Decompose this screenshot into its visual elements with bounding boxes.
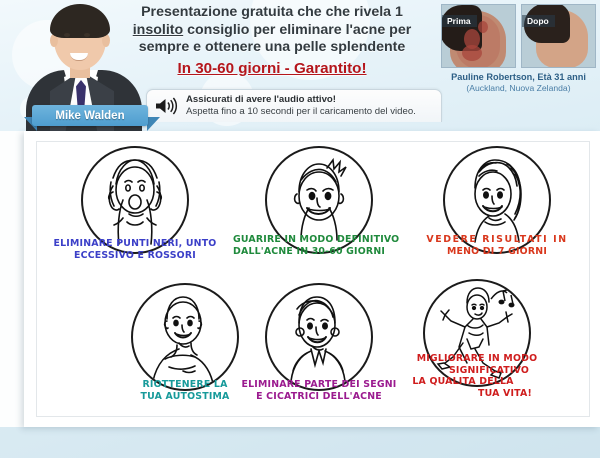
presenter-eyebrow-right <box>81 28 91 30</box>
benefit-item: GUARIRE IN MODO DEFINITIVO DALL'ACNE IN … <box>227 142 411 279</box>
before-photo: Prima <box>441 4 516 68</box>
benefit-caption-line: TUA VITA! <box>385 388 569 400</box>
audio-notice-line-2: Aspetta fino a 10 secondi per il caricam… <box>186 106 416 117</box>
headline-emphasis: insolito <box>133 22 183 38</box>
before-after-images: Prima Dopo <box>441 4 596 68</box>
benefit-caption-line: MENO DI 7 GIORNI <box>405 246 589 258</box>
left-margin-strip <box>0 131 24 427</box>
benefit-item: VEDERE RISULTATI IN MENO DI 7 GIORNI <box>405 142 589 279</box>
headline-guarantee: In 30-60 giorni - Garantito! <box>103 60 441 78</box>
acne-blotch <box>478 21 488 33</box>
page-title: Presentazione gratuita che che rivela 1 … <box>103 4 441 77</box>
woman-earrings-icon <box>265 283 373 391</box>
speaker-icon <box>155 97 179 115</box>
benefit-caption: ELIMINARE PARTE DEI SEGNI E CICATRICI DE… <box>227 379 411 402</box>
presenter-hair <box>50 4 110 38</box>
before-after-testimonial: Prima Dopo Pauline Robertson, Età 31 ann… <box>441 4 596 88</box>
benefit-caption-line: VEDERE RISULTATI IN <box>405 234 589 246</box>
acne-blotch <box>462 45 482 61</box>
benefits-grid: ELIMINARE PUNTI NERI, UNTO ECCESSIVO E R… <box>37 142 589 416</box>
audio-notice-text: Assicurati di avere l'audio attivo! Aspe… <box>186 94 416 119</box>
benefit-caption-line: DALL'ACNE IN 30-60 GIORNI <box>233 246 411 258</box>
testimonial-caption: Pauline Robertson, Età 31 anni (Auckland… <box>441 72 596 93</box>
presenter-name: Mike Walden <box>55 110 124 122</box>
benefits-panel: ELIMINARE PUNTI NERI, UNTO ECCESSIVO E R… <box>24 131 600 427</box>
presenter-name-ribbon: Mike Walden <box>32 105 148 126</box>
headline-line-2: consiglio per eliminare l'acne per <box>183 22 411 38</box>
benefit-caption: ELIMINARE PUNTI NERI, UNTO ECCESSIVO E R… <box>43 238 227 261</box>
benefit-caption-line: GUARIRE IN MODO DEFINITIVO <box>233 234 411 246</box>
audio-notice: Assicurati di avere l'audio attivo! Aspe… <box>146 89 442 122</box>
testimonial-name: Pauline Robertson, Età 31 anni <box>441 72 596 82</box>
audio-notice-line-1: Assicurati di avere l'audio attivo! <box>186 94 336 105</box>
confident-person-icon <box>131 283 239 391</box>
headline-line-3: sempre e ottenere una pelle splendente <box>139 39 406 55</box>
benefit-caption-line: MIGLIORARE IN MODO <box>385 353 569 365</box>
after-label: Dopo <box>522 15 555 27</box>
benefit-caption-line: SIGNIFICATIVO <box>385 365 569 377</box>
before-label: Prima <box>442 15 477 27</box>
benefit-item: ELIMINARE PARTE DEI SEGNI E CICATRICI DE… <box>227 279 411 416</box>
testimonial-location: (Auckland, Nuova Zelanda) <box>441 83 596 93</box>
benefit-caption: VEDERE RISULTATI IN MENO DI 7 GIORNI <box>405 234 589 257</box>
benefit-item: MIGLIORARE IN MODO SIGNIFICATIVO LA QUAL… <box>385 275 569 412</box>
benefit-caption: GUARIRE IN MODO DEFINITIVO DALL'ACNE IN … <box>227 234 411 257</box>
benefit-caption-line: LA QUALITA DELLA <box>385 376 569 388</box>
benefit-caption-line: ELIMINARE PUNTI NERI, UNTO <box>43 238 227 250</box>
after-photo: Dopo <box>521 4 596 68</box>
landing-page: Mike Walden Presentazione gratuita che c… <box>0 0 600 458</box>
benefit-caption: MIGLIORARE IN MODO SIGNIFICATIVO LA QUAL… <box>385 353 569 399</box>
presenter-eyebrow-left <box>62 28 72 30</box>
presenter-eye-left <box>64 33 70 37</box>
benefits-inner-box: ELIMINARE PUNTI NERI, UNTO ECCESSIVO E R… <box>36 141 590 417</box>
benefit-caption-line: ECCESSIVO E ROSSORI <box>43 250 227 262</box>
benefit-item: ELIMINARE PUNTI NERI, UNTO ECCESSIVO E R… <box>43 142 227 279</box>
hero-banner: Mike Walden Presentazione gratuita che c… <box>0 0 600 131</box>
headline-line-1: Presentazione gratuita che che rivela 1 <box>141 4 403 20</box>
benefit-caption-line: E CICATRICI DELL'ACNE <box>227 391 411 403</box>
benefit-caption-line: ELIMINARE PARTE DEI SEGNI <box>227 379 411 391</box>
presenter-eye-right <box>84 33 90 37</box>
